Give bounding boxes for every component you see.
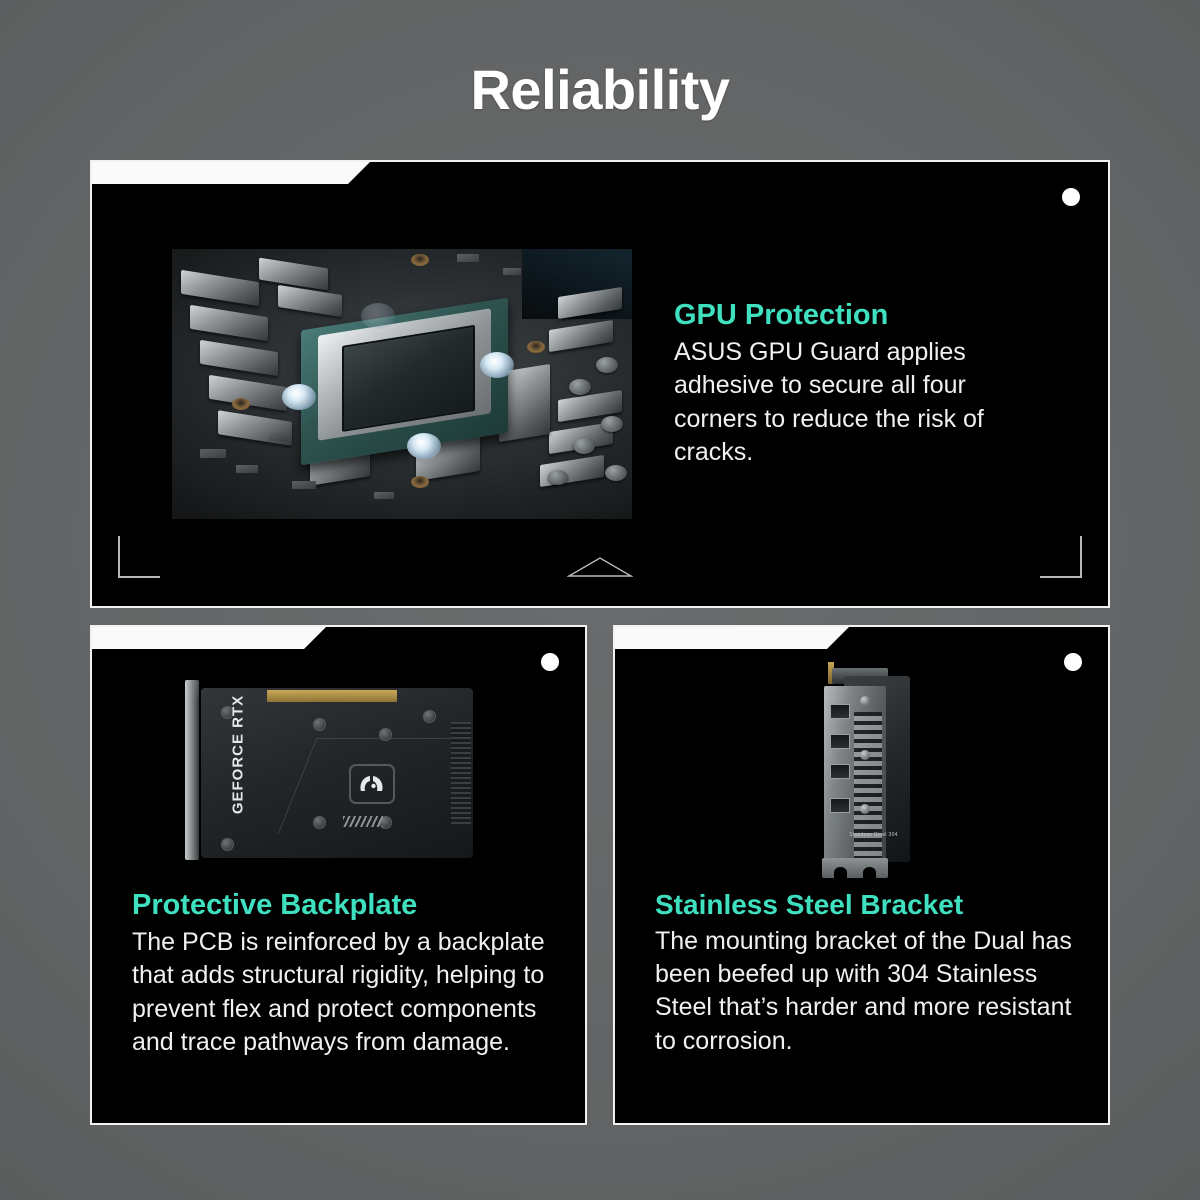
pcb-surface [172, 249, 632, 519]
card-top-accent-bar [615, 627, 827, 649]
card-heading: Stainless Steel Bracket [655, 889, 1080, 921]
hdmi-port [830, 798, 850, 813]
backplate-markings [343, 816, 383, 827]
bracket-caption: Stainless Steel 304 [844, 832, 904, 838]
card-body-text: The mounting bracket of the Dual has bee… [655, 925, 1080, 1058]
card-copy: Stainless Steel Bracket The mounting bra… [655, 889, 1080, 1058]
adhesive-dot-top-left [361, 303, 395, 329]
adhesive-dot-top-right [480, 352, 514, 378]
adhesive-dot-bottom [407, 433, 441, 459]
card-content: GPU Protection ASUS GPU Guard applies ad… [92, 162, 1108, 606]
card-deck: GPU Protection ASUS GPU Guard applies ad… [90, 160, 1110, 1125]
backplate-label: GEFORCE RTX [229, 688, 246, 830]
display-port-1 [830, 704, 850, 719]
backplate-body: GEFORCE RTX [201, 688, 473, 858]
backplate-photo: GEFORCE RTX [92, 663, 585, 881]
io-bracket-photo: Stainless Steel 304 [615, 663, 1108, 881]
backplate-io-bracket [185, 680, 199, 860]
chevron-up-icon [567, 556, 633, 578]
card-top-accent-bar [92, 627, 304, 649]
heatsink-fins [451, 722, 471, 826]
bracket-vents [854, 712, 882, 862]
gpu-die-photo [172, 249, 632, 519]
card-gpu-protection[interactable]: GPU Protection ASUS GPU Guard applies ad… [90, 160, 1110, 608]
corner-bracket-bottom-right [1040, 536, 1082, 578]
bracket-plate: Stainless Steel 304 [824, 686, 886, 864]
corner-bracket-bottom-left [118, 536, 160, 578]
card-copy: Protective Backplate The PCB is reinforc… [132, 889, 557, 1059]
page-title: Reliability [0, 0, 1200, 118]
card-heading: GPU Protection [674, 299, 1044, 332]
display-port-2 [830, 734, 850, 749]
card-protective-backplate[interactable]: GEFORCE RTX Protective Backplate The PCB… [90, 625, 587, 1125]
card-body-text: The PCB is reinforced by a backplate tha… [132, 926, 557, 1059]
card-stainless-steel-bracket[interactable]: Stainless Steel 304 Stainless Steel Brac… [613, 625, 1110, 1125]
card-copy: GPU Protection ASUS GPU Guard applies ad… [674, 299, 1044, 469]
card-heading: Protective Backplate [132, 889, 557, 922]
pcie-connector [267, 690, 397, 702]
asus-logo-icon [349, 764, 395, 804]
card-body-text: ASUS GPU Guard applies adhesive to secur… [674, 336, 1044, 469]
display-port-3 [830, 764, 850, 779]
bracket-mounting-tab [822, 858, 888, 878]
